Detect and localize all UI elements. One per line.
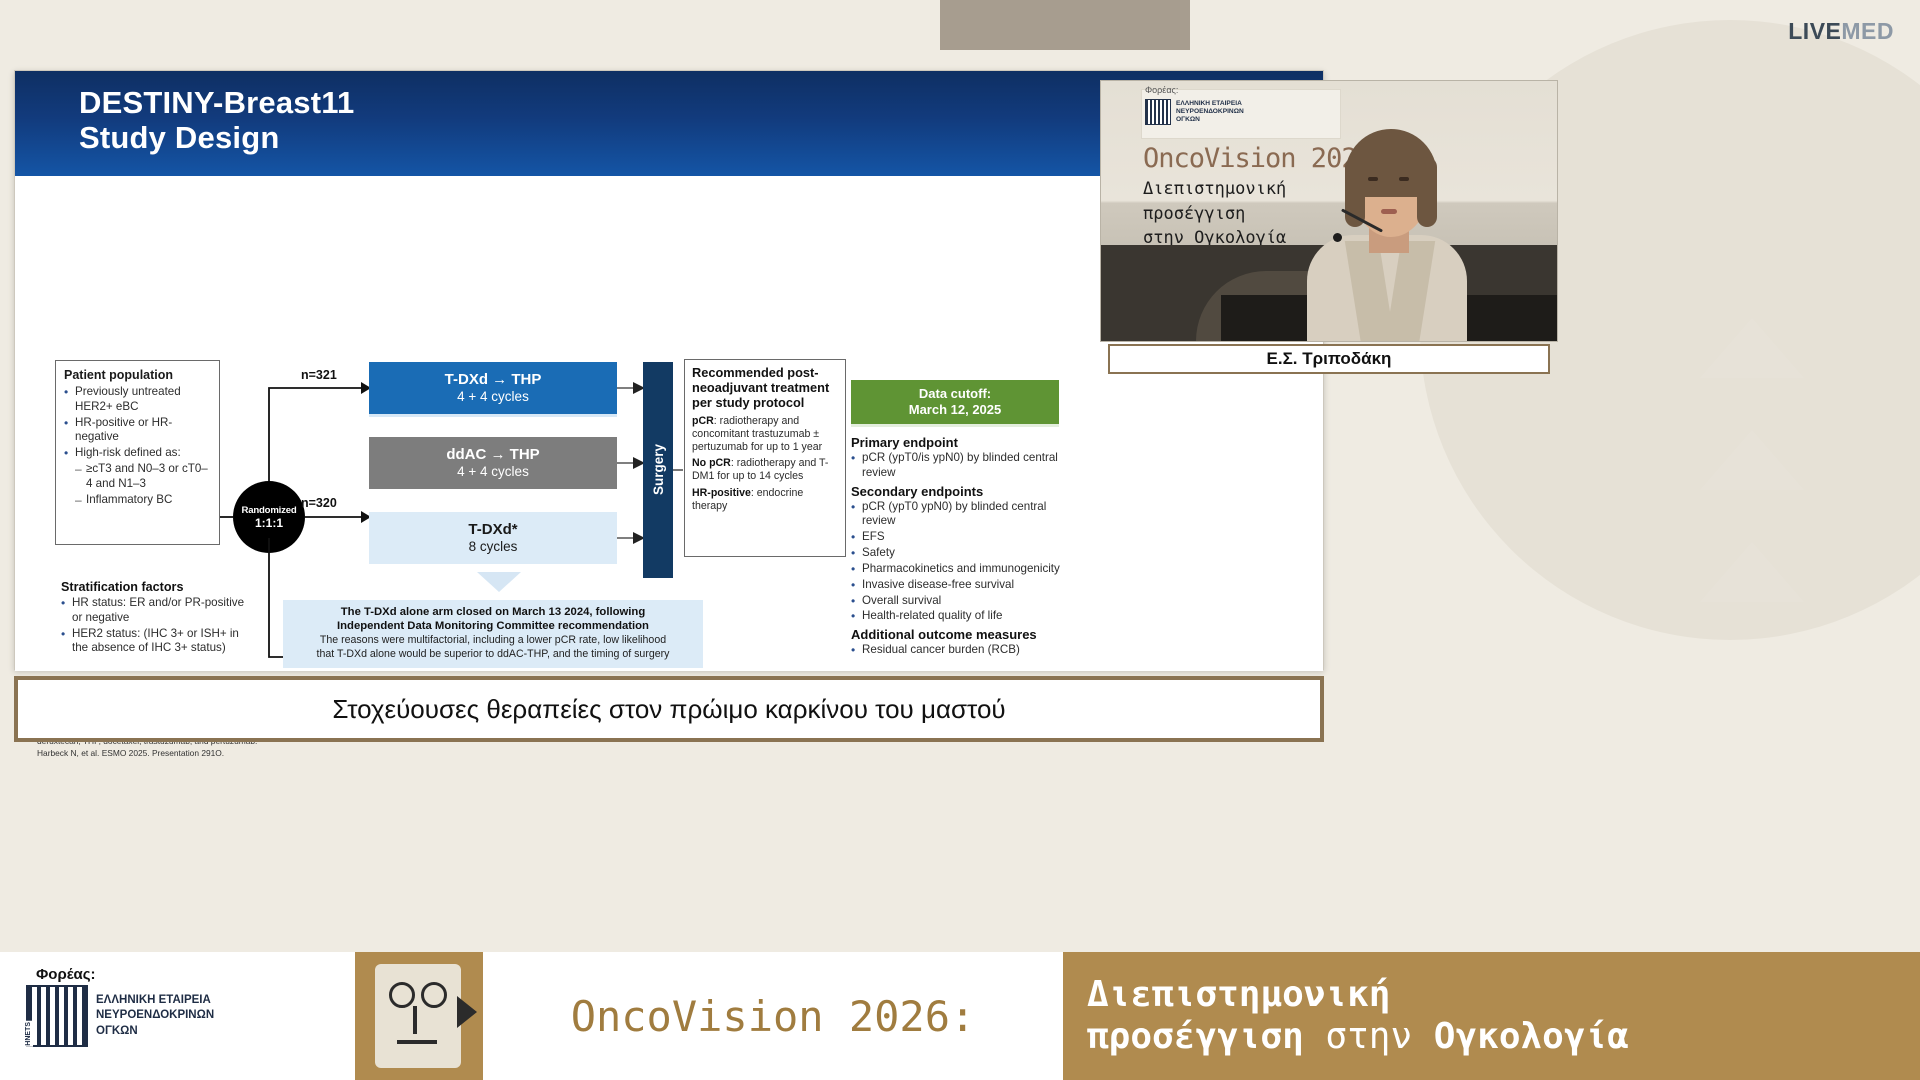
secondary-endpoint-item: Invasive disease-free survival — [851, 578, 1066, 593]
arm-1-n-label: n=321 — [301, 368, 337, 382]
data-cutoff-date: March 12, 2025 — [909, 402, 1002, 418]
secondary-endpoint-item: EFS — [851, 530, 1066, 545]
secondary-endpoint-item: Overall survival — [851, 594, 1066, 609]
livemed-logo: LIVEMED — [1788, 18, 1894, 45]
secondary-endpoint-item: Health-related quality of life — [851, 609, 1066, 624]
artwork-mouth-icon — [397, 1040, 437, 1044]
post-neoadjuvant-paragraph: HR-positive: endocrine therapy — [692, 487, 838, 513]
additional-outcomes-list: Residual cancer burden (RCB) — [851, 643, 1066, 658]
secondary-endpoint-item: Safety — [851, 546, 1066, 561]
livemed-live-text: LIVE — [1788, 18, 1841, 44]
caption-bar: Στοχεύουσες θεραπείες στον πρώιμο καρκίν… — [14, 676, 1324, 742]
bottom-tagline-part-b: στην — [1325, 1016, 1433, 1057]
arm-3-regimen: T-DXd* — [468, 521, 517, 538]
post-neoadjuvant-paragraphs: pCR: radiotherapy and concomitant trastu… — [692, 415, 838, 513]
treatment-arm-tdxd-alone: T-DXd* 8 cycles — [369, 512, 617, 564]
patient-population-item: HR-positive or HR-negative — [64, 416, 213, 446]
post-neoadjuvant-paragraph: pCR: radiotherapy and concomitant trastu… — [692, 415, 838, 453]
primary-endpoint-list: pCR (ypT0/is ypN0) by blinded central re… — [851, 451, 1066, 481]
livemed-med-text: MED — [1841, 18, 1894, 44]
speaker-hair-right — [1417, 157, 1437, 227]
arm-2-regimen: ddAC → THP — [446, 446, 539, 463]
bottom-society-line2: ΝΕΥΡΟΕΝΔΟΚΡΙΝΩΝ — [96, 1008, 214, 1023]
video-foros-label: Φορέας: — [1145, 85, 1178, 95]
caption-text: Στοχεύουσες θεραπείες στον πρώιμο καρκίν… — [332, 694, 1005, 725]
bottom-bar: Φορέας: ΕΛΛΗΝΙΚΗ ΕΤΑΙΡΕΙΑ ΝΕΥΡΟΕΝΔΟΚΡΙΝΩ… — [0, 952, 1920, 1080]
surgery-column: Surgery — [643, 362, 673, 578]
data-cutoff-label: Data cutoff: — [919, 386, 991, 402]
stratification-heading: Stratification factors — [61, 580, 251, 594]
bottom-tagline-line2: προσέγγιση στην Ογκολογία — [1087, 1016, 1920, 1058]
secondary-endpoint-item: pCR (ypT0 ypN0) by blinded central revie… — [851, 500, 1066, 530]
bottom-society-line1: ΕΛΛΗΝΙΚΗ ΕΤΑΙΡΕΙΑ — [96, 993, 214, 1008]
bottom-tagline-block: Διεπιστημονική προσέγγιση στην Ογκολογία — [1063, 952, 1920, 1080]
bottom-tagline-part-c: Ογκολογία — [1434, 1016, 1629, 1057]
bottom-foros-label: Φορέας: — [36, 966, 96, 983]
speaker-name: Ε.Σ. Τριποδάκη — [1267, 349, 1392, 369]
patient-population-heading: Patient population — [64, 368, 213, 382]
tdxd-arm-closure-note: The T-DXd alone arm closed on March 13 2… — [283, 600, 703, 668]
arm-2-cycles: 4 + 4 cycles — [457, 464, 529, 480]
chevron-down-icon — [477, 572, 521, 592]
note-bold-line2: Independent Data Monitoring Committee re… — [291, 619, 695, 633]
post-neoadjuvant-heading: Recommended post-neoadjuvant treatment p… — [692, 366, 838, 411]
video-society-text: ΕΛΛΗΝΙΚΗ ΕΤΑΙΡΕΙΑ ΝΕΥΡΟΕΝΔΟΚΡΙΝΩΝ ΟΓΚΩΝ — [1176, 100, 1244, 125]
artwork-face-icon — [375, 964, 461, 1068]
speaker-eye-left — [1368, 177, 1378, 181]
bottom-event-title-block: OncoVision 2026: — [483, 952, 1063, 1080]
hnets-mark-icon — [1145, 99, 1171, 125]
stratification-list: HR status: ER and/or PR-positive or nega… — [61, 596, 251, 656]
video-society-line3: ΟΓΚΩΝ — [1176, 116, 1244, 124]
bottom-society-logo: ΕΛΛΗΝΙΚΗ ΕΤΑΙΡΕΙΑ ΝΕΥΡΟΕΝΔΟΚΡΙΝΩΝ ΟΓΚΩΝ — [26, 985, 214, 1047]
hnets-logo-icon — [26, 985, 88, 1047]
speaker-figure — [1301, 115, 1471, 342]
patient-population-item: High-risk defined as: — [64, 446, 213, 461]
background-strip — [940, 0, 1190, 50]
arm-2-n-label: n=320 — [301, 496, 337, 510]
secondary-endpoints-heading: Secondary endpoints — [851, 484, 1066, 499]
secondary-endpoints-list: pCR (ypT0 ypN0) by blinded central revie… — [851, 500, 1066, 625]
secondary-endpoint-item: Pharmacokinetics and immunogenicity — [851, 562, 1066, 577]
artwork-triangle-icon — [457, 996, 477, 1028]
background-chevron-3 — [1700, 542, 1804, 602]
surgery-label: Surgery — [651, 444, 666, 495]
speaker-name-bar: Ε.Σ. Τριποδάκη — [1108, 344, 1550, 374]
post-neoadjuvant-term: HR-positive — [692, 487, 751, 499]
footnote-line3: Harbeck N, et al. ESMO 2025. Presentatio… — [37, 748, 1087, 760]
bottom-society-text: ΕΛΛΗΝΙΚΗ ΕΤΑΙΡΕΙΑ ΝΕΥΡΟΕΝΔΟΚΡΙΝΩΝ ΟΓΚΩΝ — [96, 993, 214, 1039]
background-chevron-2 — [1700, 430, 1804, 490]
bottom-society-line3: ΟΓΚΩΝ — [96, 1024, 214, 1039]
randomization-ratio: 1:1:1 — [255, 516, 283, 530]
patient-population-item: Previously untreated HER2+ eBC — [64, 385, 213, 415]
post-neoadjuvant-box: Recommended post-neoadjuvant treatment p… — [684, 359, 846, 557]
video-event-subtitle: Διεπιστημονική προσέγγιση στην Ογκολογία — [1143, 177, 1286, 251]
note-plain-line1: The reasons were multifactorial, includi… — [291, 634, 695, 647]
post-neoadjuvant-term: pCR — [692, 415, 714, 427]
additional-outcome-item: Residual cancer burden (RCB) — [851, 643, 1066, 658]
arm-3-cycles: 8 cycles — [469, 539, 518, 555]
artwork-eye-left-icon — [389, 982, 415, 1008]
stratification-item: HER2 status: (IHC 3+ or ISH+ in the abse… — [61, 627, 251, 657]
caption-inner: Στοχεύουσες θεραπείες στον πρώιμο καρκίν… — [18, 680, 1320, 738]
primary-endpoint-heading: Primary endpoint — [851, 435, 1066, 450]
bottom-society-block: Φορέας: ΕΛΛΗΝΙΚΗ ΕΤΑΙΡΕΙΑ ΝΕΥΡΟΕΝΔΟΚΡΙΝΩ… — [0, 952, 355, 1080]
post-neoadjuvant-paragraph: No pCR: radiotherapy and T-DM1 for up to… — [692, 457, 838, 483]
primary-endpoint-item: pCR (ypT0/is ypN0) by blinded central re… — [851, 451, 1066, 481]
speaker-eye-right — [1399, 177, 1409, 181]
speaker-mouth — [1381, 209, 1397, 214]
microphone-head-icon — [1333, 233, 1342, 242]
bottom-event-title: OncoVision 2026: — [571, 992, 976, 1041]
treatment-arm-ddac-thp: ddAC → THP 4 + 4 cycles — [369, 437, 617, 489]
additional-outcomes-heading: Additional outcome measures — [851, 627, 1066, 642]
patient-population-item: ≥cT3 and N0–3 or cT0–4 and N1–3 — [64, 462, 213, 492]
stratification-factors: Stratification factors HR status: ER and… — [61, 580, 251, 657]
randomization-node: Randomized 1:1:1 — [233, 481, 305, 553]
stratification-item: HR status: ER and/or PR-positive or nega… — [61, 596, 251, 626]
video-subtitle-line1: Διεπιστημονική — [1143, 177, 1286, 202]
bottom-tagline-line1: Διεπιστημονική — [1087, 974, 1920, 1016]
background-chevron-1 — [1700, 318, 1804, 378]
post-neoadjuvant-term: No pCR — [692, 457, 731, 469]
patient-population-box: Patient population Previously untreated … — [55, 360, 220, 545]
bottom-tagline-part-a: προσέγγιση — [1087, 1016, 1325, 1057]
artwork-eye-right-icon — [421, 982, 447, 1008]
patient-population-item: Inflammatory BC — [64, 493, 213, 508]
arm-1-regimen: T-DXd → THP — [445, 371, 542, 388]
randomization-label: Randomized — [241, 505, 296, 516]
video-society-logo: ΕΛΛΗΝΙΚΗ ΕΤΑΙΡΕΙΑ ΝΕΥΡΟΕΝΔΟΚΡΙΝΩΝ ΟΓΚΩΝ — [1145, 99, 1244, 125]
bottom-artwork — [355, 952, 483, 1080]
video-society-line1: ΕΛΛΗΝΙΚΗ ΕΤΑΙΡΕΙΑ — [1176, 100, 1244, 108]
note-plain-line2: that T-DXd alone would be superior to dd… — [291, 648, 695, 661]
artwork-nose-icon — [413, 1006, 417, 1034]
endpoints-column: Primary endpoint pCR (ypT0/is ypN0) by b… — [851, 432, 1066, 659]
treatment-arm-tdxd-thp: T-DXd → THP 4 + 4 cycles — [369, 362, 617, 414]
video-subtitle-line2: προσέγγιση — [1143, 202, 1286, 227]
note-bold-line1: The T-DXd alone arm closed on March 13 2… — [291, 605, 695, 619]
data-cutoff-badge: Data cutoff: March 12, 2025 — [851, 380, 1059, 424]
patient-population-list: Previously untreated HER2+ eBCHR-positiv… — [64, 385, 213, 508]
video-society-line2: ΝΕΥΡΟΕΝΔΟΚΡΙΝΩΝ — [1176, 108, 1244, 116]
speaker-video[interactable]: Φορέας: ΕΛΛΗΝΙΚΗ ΕΤΑΙΡΕΙΑ ΝΕΥΡΟΕΝΔΟΚΡΙΝΩ… — [1100, 80, 1558, 342]
arm-1-cycles: 4 + 4 cycles — [457, 389, 529, 405]
